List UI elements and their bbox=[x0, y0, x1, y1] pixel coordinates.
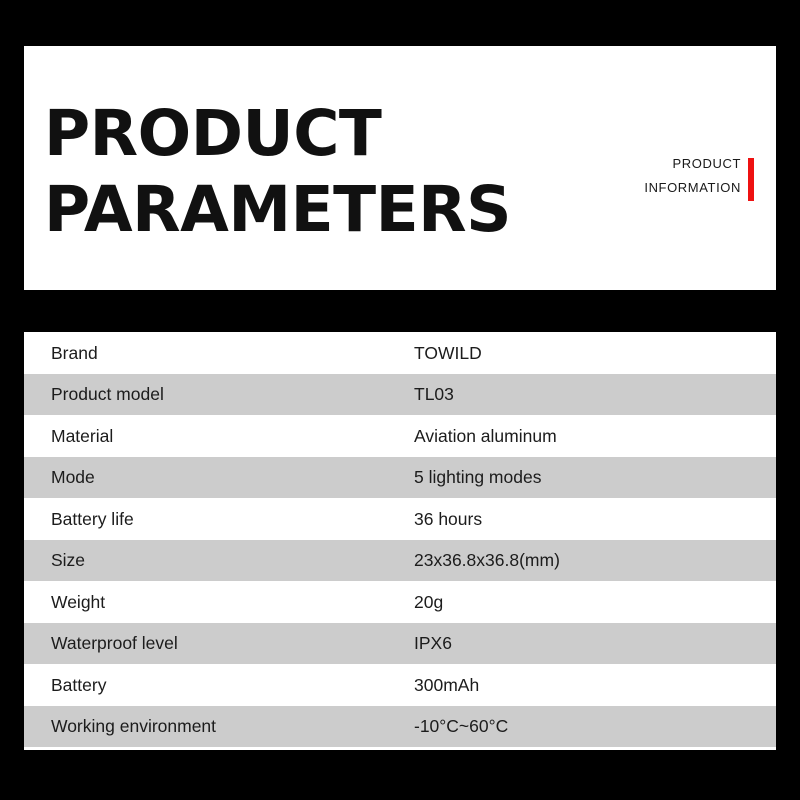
spec-value: Aviation aluminum bbox=[414, 426, 776, 446]
spec-value: TOWILD bbox=[414, 343, 776, 363]
table-row: Size23x36.8x36.8(mm) bbox=[24, 540, 776, 582]
spec-label: Size bbox=[51, 550, 414, 570]
header-card: PRODUCT PARAMETERS PRODUCT INFORMATION bbox=[24, 46, 776, 290]
spec-label: Battery bbox=[51, 675, 414, 695]
spec-value: IPX6 bbox=[414, 633, 776, 653]
table-row: Weight20g bbox=[24, 581, 776, 623]
spec-label: Working environment bbox=[51, 716, 414, 736]
header-side-label: PRODUCT INFORMATION bbox=[541, 152, 741, 200]
table-row: Product modelTL03 bbox=[24, 374, 776, 416]
spec-value: 300mAh bbox=[414, 675, 776, 695]
spec-label: Mode bbox=[51, 467, 414, 487]
table-row: Mode5 lighting modes bbox=[24, 457, 776, 499]
spec-value: 36 hours bbox=[414, 509, 776, 529]
product-parameters-page: PRODUCT PARAMETERS PRODUCT INFORMATION B… bbox=[0, 0, 800, 800]
spec-label: Weight bbox=[51, 592, 414, 612]
spec-label: Brand bbox=[51, 343, 414, 363]
table-row: Waterproof levelIPX6 bbox=[24, 623, 776, 665]
header-side-label-line1: PRODUCT bbox=[541, 152, 741, 176]
spec-value: -10°C~60°C bbox=[414, 716, 776, 736]
spec-label: Battery life bbox=[51, 509, 414, 529]
spec-label: Material bbox=[51, 426, 414, 446]
table-row: Battery life36 hours bbox=[24, 498, 776, 540]
spec-value: 20g bbox=[414, 592, 776, 612]
table-row: BrandTOWILD bbox=[24, 332, 776, 374]
table-row: MaterialAviation aluminum bbox=[24, 415, 776, 457]
spec-label: Waterproof level bbox=[51, 633, 414, 653]
spec-value: 5 lighting modes bbox=[414, 467, 776, 487]
red-accent-bar bbox=[748, 158, 754, 201]
spec-table: BrandTOWILDProduct modelTL03MaterialAvia… bbox=[24, 332, 776, 750]
divider-band bbox=[0, 290, 800, 332]
table-row: Battery300mAh bbox=[24, 664, 776, 706]
table-row: Working environment-10°C~60°C bbox=[24, 706, 776, 748]
spec-value: TL03 bbox=[414, 384, 776, 404]
spec-value: 23x36.8x36.8(mm) bbox=[414, 550, 776, 570]
header-side-label-line2: INFORMATION bbox=[541, 176, 741, 200]
spec-label: Product model bbox=[51, 384, 414, 404]
page-title: PRODUCT PARAMETERS bbox=[44, 96, 564, 248]
